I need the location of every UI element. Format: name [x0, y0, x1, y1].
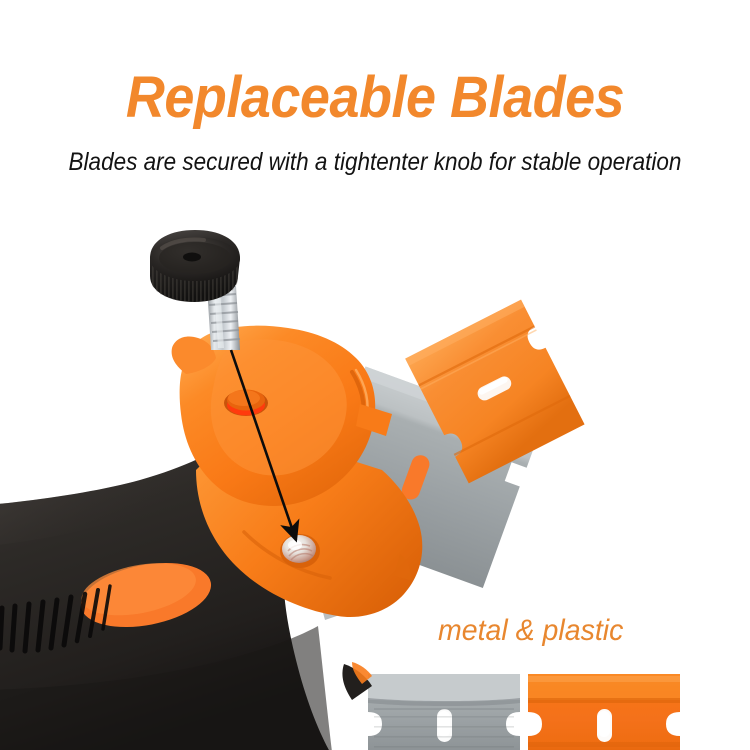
- thumb-knob: [150, 230, 240, 302]
- clamp-screw: [280, 534, 320, 568]
- page-title: Replaceable Blades: [26, 68, 724, 129]
- plastic-razor-blade: [528, 674, 680, 750]
- subtitle-text: Blades are secured with a tightenter kno…: [38, 148, 713, 177]
- metal-razor-blade: [368, 674, 520, 750]
- materials-caption: metal & plastic: [438, 614, 623, 648]
- product-image-canvas: Replaceable Blades Blades are secured wi…: [0, 0, 750, 750]
